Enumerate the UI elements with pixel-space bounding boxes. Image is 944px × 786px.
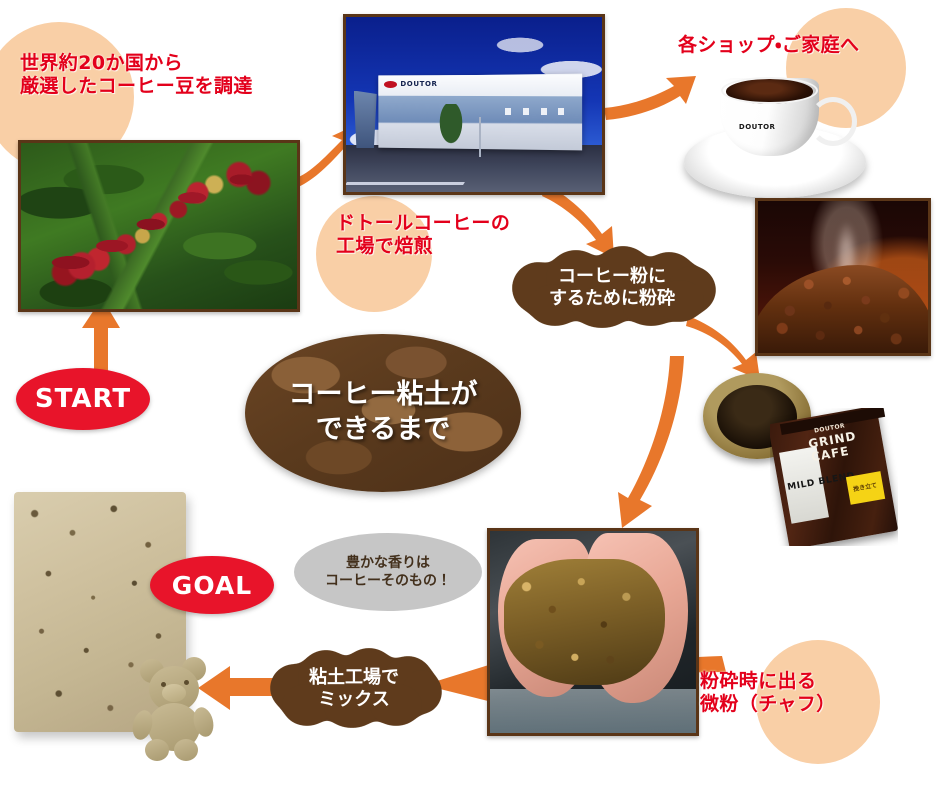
label-clayfactory-text: 粘土工場で ミックス bbox=[309, 667, 399, 712]
factory-logo-text: DOUTOR bbox=[400, 80, 437, 88]
infographic-canvas: DOUTOR DOUTOR DOU bbox=[0, 0, 944, 786]
photo-hands-with-chaff bbox=[487, 528, 699, 736]
photo-coffee-cherries bbox=[18, 140, 300, 312]
clay-teddy-bear bbox=[126, 655, 222, 760]
doutor-mark-icon bbox=[384, 81, 397, 88]
arrow-bowl-to-hands bbox=[596, 352, 692, 542]
label-grinding-cloud: コーヒー粉に するために粉砕 bbox=[506, 246, 718, 330]
factory-logo: DOUTOR bbox=[384, 80, 437, 88]
photo-coffee-cup: DOUTOR bbox=[680, 62, 870, 207]
photo-doutor-factory: DOUTOR bbox=[343, 14, 605, 195]
label-to-shops: 各ショップ・ご家庭へ bbox=[678, 34, 928, 57]
package-sticker-text: 挽き立て bbox=[853, 483, 878, 493]
photo-roasted-beans bbox=[755, 198, 931, 356]
label-grinding-text: コーヒー粉に するために粉砕 bbox=[549, 266, 675, 311]
badge-goal-label: GOAL bbox=[172, 571, 252, 600]
label-chaff: 粉砕時に出る 微粉（チャフ） bbox=[700, 670, 920, 716]
center-title-text: コーヒー粘土が できるまで bbox=[289, 378, 478, 447]
aroma-bubble-text: 豊かな香りは コーヒーそのもの！ bbox=[325, 554, 451, 590]
badge-start: START bbox=[16, 368, 150, 430]
badge-goal: GOAL bbox=[150, 556, 274, 614]
center-title-oval: コーヒー粘土が できるまで bbox=[245, 334, 521, 492]
label-clayfactory-cloud: 粘土工場で ミックス bbox=[266, 648, 442, 730]
label-sourcing: 世界約20か国から 厳選したコーヒー豆を調達 bbox=[20, 52, 320, 98]
badge-start-label: START bbox=[35, 384, 131, 414]
cup-logo-text: DOUTOR bbox=[739, 123, 776, 131]
aroma-speech-bubble: 豊かな香りは コーヒーそのもの！ bbox=[294, 533, 482, 611]
photo-coffee-package: DOUTOR GRIND CAFE MILD BLEND 挽き立て bbox=[770, 408, 898, 546]
photo-coffee-clay bbox=[14, 492, 229, 767]
